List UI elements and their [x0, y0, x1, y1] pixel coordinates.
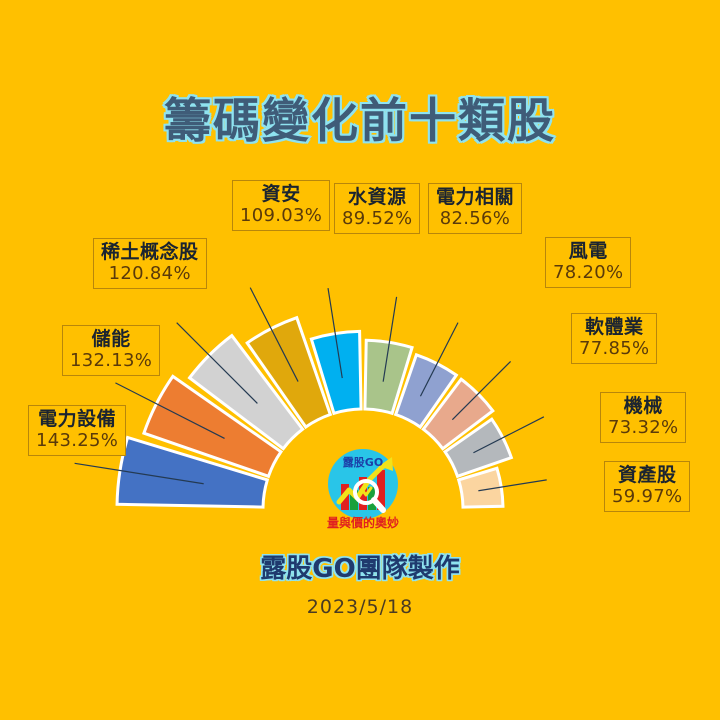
- callout-label: 稀土概念股: [101, 242, 199, 263]
- callout-label: 資安: [240, 184, 322, 205]
- footer-date: 2023/5/18: [0, 596, 720, 618]
- callout-資安[interactable]: 資安 109.03%: [232, 180, 330, 231]
- callout-軟體業[interactable]: 軟體業 77.85%: [571, 313, 657, 364]
- logo-top-text: 露股GO: [343, 456, 383, 469]
- callout-value: 89.52%: [342, 209, 412, 229]
- footer-credit: 露股GO團隊製作: [0, 548, 720, 585]
- footer-date-text: 2023/5/18: [307, 596, 413, 618]
- callout-value: 143.25%: [36, 431, 118, 451]
- callout-value: 59.97%: [612, 487, 682, 507]
- callout-value: 132.13%: [70, 351, 152, 371]
- infographic-canvas: 籌碼變化前十類股 電力設備 143.25% 儲能 132.13% 稀土概念股 1…: [0, 0, 720, 720]
- logo-bottom-text: 量與價的奧妙: [327, 515, 399, 530]
- callout-label: 電力設備: [36, 409, 118, 430]
- callout-label: 風電: [553, 241, 623, 262]
- callout-資産股[interactable]: 資產股 59.97%: [604, 461, 690, 512]
- callout-label: 機械: [608, 396, 678, 417]
- callout-value: 78.20%: [553, 263, 623, 283]
- callout-label: 資產股: [612, 465, 682, 486]
- callout-label: 軟體業: [579, 317, 649, 338]
- footer-credit-text: 露股GO團隊製作: [260, 554, 459, 584]
- callout-label: 儲能: [70, 329, 152, 350]
- callout-label: 電力相關: [436, 187, 514, 208]
- callout-value: 120.84%: [101, 264, 199, 284]
- callout-機械[interactable]: 機械 73.32%: [600, 392, 686, 443]
- callout-label: 水資源: [342, 187, 412, 208]
- callout-水資源[interactable]: 水資源 89.52%: [334, 183, 420, 234]
- callout-电力設備[interactable]: 電力設備 143.25%: [28, 405, 126, 456]
- callout-稀土概念股[interactable]: 稀土概念股 120.84%: [93, 238, 207, 289]
- callout-風電[interactable]: 風電 78.20%: [545, 237, 631, 288]
- callout-value: 82.56%: [436, 209, 514, 229]
- callout-儲能[interactable]: 儲能 132.13%: [62, 325, 160, 376]
- callout-value: 109.03%: [240, 206, 322, 226]
- callout-電力相關[interactable]: 電力相關 82.56%: [428, 183, 522, 234]
- callout-value: 77.85%: [579, 339, 649, 359]
- callout-value: 73.32%: [608, 418, 678, 438]
- brand-logo: 露股GO 量與價的奧妙: [317, 444, 409, 530]
